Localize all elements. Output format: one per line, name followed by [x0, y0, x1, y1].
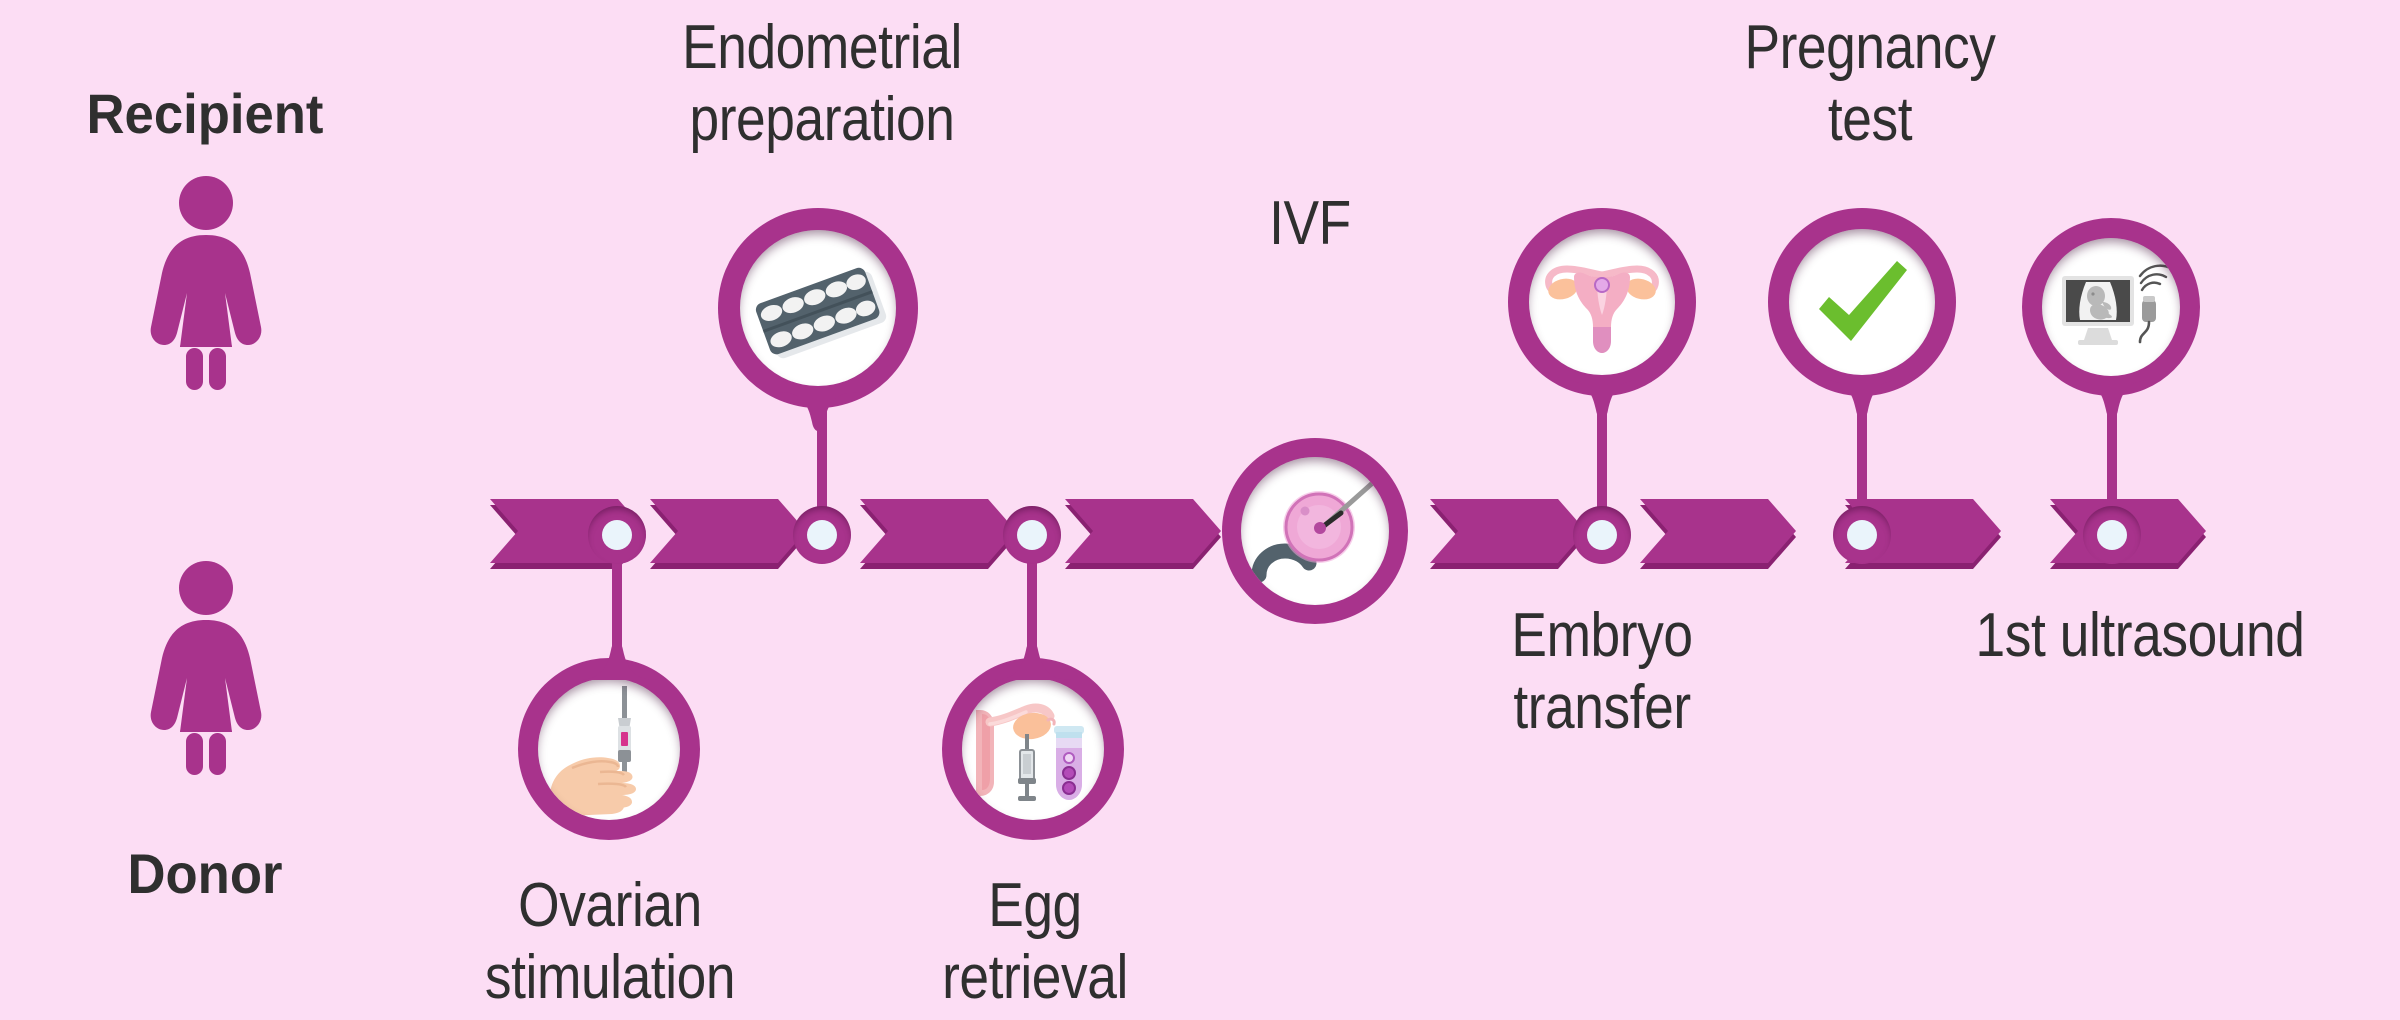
timeline-node-ultrasound[interactable]: [2083, 506, 2141, 564]
timeline-node-ovarian[interactable]: [588, 506, 646, 564]
step-label-ovarian-stimulation: Ovarian stimulation: [455, 870, 765, 1014]
recipient-label: Recipient: [50, 78, 360, 150]
node-shadow: [793, 506, 851, 564]
step-label-endometrial-preparation: Endometrial preparation: [667, 12, 977, 156]
step-label-embryo-transfer: Embryo transfer: [1447, 600, 1757, 744]
pin-stem-flare-endometrial: [778, 392, 858, 438]
step-label-ivf: IVF: [1207, 188, 1413, 260]
node-shadow: [2083, 506, 2141, 564]
pin-stem-flare-egg-retrieval: [992, 634, 1072, 680]
node-shadow: [1003, 506, 1061, 564]
pin-inner: [740, 230, 896, 386]
hand-holding-syringe-icon: [538, 678, 680, 820]
uterus-embryo-icon: [1529, 229, 1675, 375]
pin-stem-flare-embryo: [1562, 380, 1642, 426]
step-pin-ovarian-stimulation[interactable]: [518, 658, 700, 840]
ovary-needle-test-tube-icon: [962, 678, 1104, 820]
donor-label: Donor: [50, 838, 360, 910]
ultrasound-monitor-icon: [2042, 238, 2180, 376]
node-shadow: [1573, 506, 1631, 564]
pin-stem-flare-ovarian: [577, 634, 657, 680]
pin-inner: [1529, 229, 1675, 375]
pin-inner: [1789, 229, 1935, 375]
step-pin-endometrial-preparation[interactable]: [718, 208, 918, 408]
node-shadow: [1833, 506, 1891, 564]
timeline-chevron-6: [1640, 499, 1800, 571]
recipient-figure-icon: [142, 175, 270, 390]
step-pin-ivf[interactable]: [1222, 438, 1408, 624]
timeline-chevron-3: [860, 499, 1020, 571]
step-pin-egg-retrieval[interactable]: [942, 658, 1124, 840]
timeline-chevron-4: [1065, 499, 1225, 571]
timeline-chevron-2: [650, 499, 810, 571]
timeline-node-egg-retrieval[interactable]: [1003, 506, 1061, 564]
timeline-node-embryo-transfer[interactable]: [1573, 506, 1631, 564]
donor-figure-icon: [142, 560, 270, 775]
timeline-node-endometrial[interactable]: [793, 506, 851, 564]
icsi-egg-injection-icon: [1241, 457, 1389, 605]
pill-blister-pack-icon: [740, 230, 896, 386]
pin-stem-flare-pregnancy: [1822, 380, 1902, 426]
pin-inner: [538, 678, 680, 820]
pin-stem-flare-ultrasound: [2072, 380, 2152, 426]
pin-inner: [2042, 238, 2180, 376]
step-label-first-ultrasound: 1st ultrasound: [1942, 600, 2338, 672]
step-pin-first-ultrasound[interactable]: [2022, 218, 2200, 396]
step-pin-pregnancy-test[interactable]: [1768, 208, 1956, 396]
step-label-egg-retrieval: Egg retrieval: [880, 870, 1190, 1014]
node-shadow: [588, 506, 646, 564]
infographic-canvas: Recipient Donor: [0, 0, 2400, 1020]
step-pin-embryo-transfer[interactable]: [1508, 208, 1696, 396]
timeline-chevron-5: [1430, 499, 1590, 571]
timeline-node-pregnancy-test[interactable]: [1833, 506, 1891, 564]
green-checkmark-icon: [1789, 229, 1935, 375]
step-label-pregnancy-test: Pregnancy test: [1715, 12, 2025, 156]
pin-inner: [962, 678, 1104, 820]
pin-inner: [1241, 457, 1389, 605]
